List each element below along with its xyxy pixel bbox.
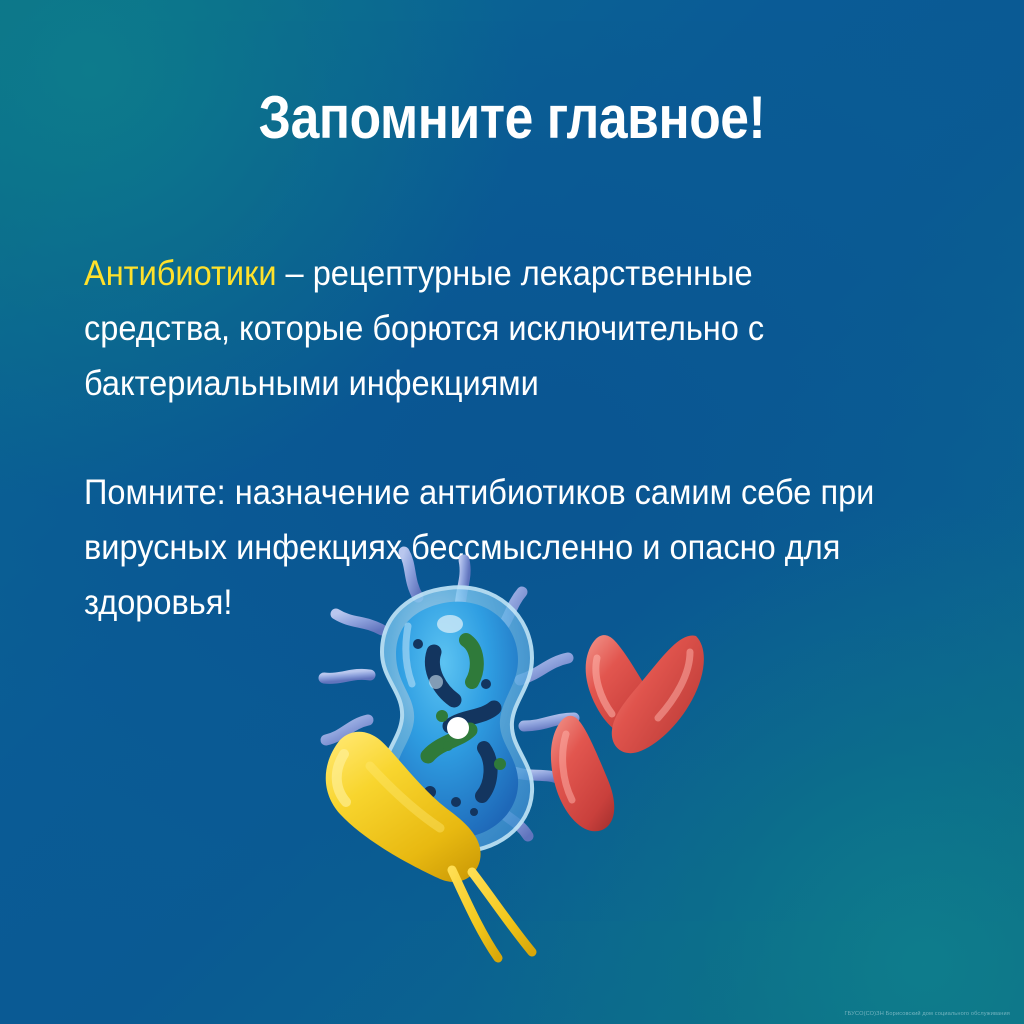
- paragraph-antibiotics-definition: Антибиотики – рецептурные лекарственные …: [84, 246, 906, 411]
- page-title: Запомните главное!: [72, 86, 953, 150]
- yellow-flagella: [452, 870, 532, 958]
- footer-credit: ГБУСО(СО)ЗН Борисовский дом социального …: [844, 1011, 1010, 1017]
- poster-canvas: Запомните главное! Антибиотики – рецепту…: [0, 0, 1024, 1024]
- red-bacteria: [551, 635, 704, 831]
- bacteria-illustration: [300, 540, 760, 1010]
- highlight-term-antibiotics: Антибиотики: [84, 254, 277, 293]
